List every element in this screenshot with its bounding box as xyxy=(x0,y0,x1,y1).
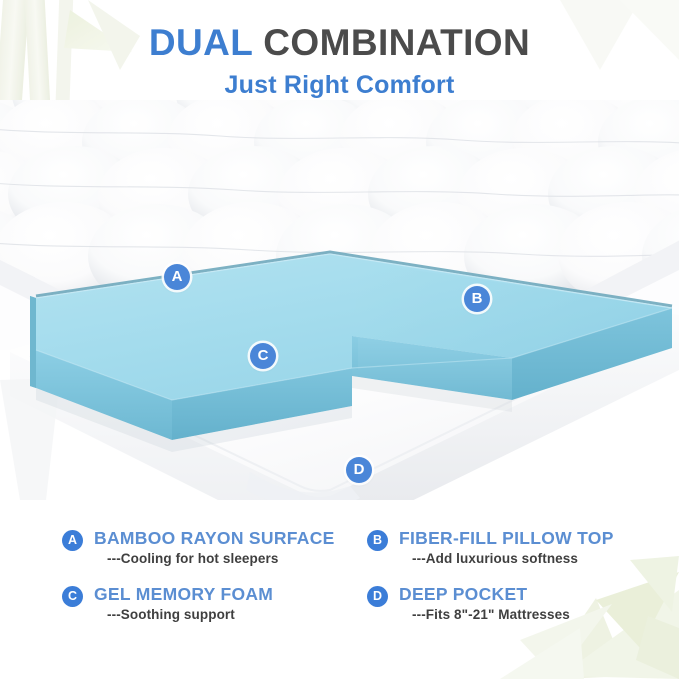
legend-sub-b: ---Add luxurious softness xyxy=(412,551,614,566)
legend-title-d: DEEP POCKET xyxy=(399,584,570,604)
page-title-highlight: DUAL xyxy=(149,22,253,63)
legend-text-a: BAMBOO RAYON SURFACE ---Cooling for hot … xyxy=(94,528,335,566)
legend-item-bamboo-rayon-surface: A BAMBOO RAYON SURFACE ---Cooling for ho… xyxy=(62,528,367,566)
legend-text-c: GEL MEMORY FOAM ---Soothing support xyxy=(94,584,273,622)
page-title: DUAL COMBINATION xyxy=(0,24,679,63)
legend-badge-c: C xyxy=(62,586,83,607)
legend-title-a: BAMBOO RAYON SURFACE xyxy=(94,528,335,548)
legend-sub-d: ---Fits 8"-21" Mattresses xyxy=(412,607,570,622)
legend-text-d: DEEP POCKET ---Fits 8"-21" Mattresses xyxy=(399,584,570,622)
legend-sub-a: ---Cooling for hot sleepers xyxy=(107,551,335,566)
badge-b-on-illustration: B xyxy=(464,286,490,312)
legend-badge-d: D xyxy=(367,586,388,607)
legend-item-fiber-fill-pillow-top: B FIBER-FILL PILLOW TOP ---Add luxurious… xyxy=(367,528,642,566)
feature-legend: A BAMBOO RAYON SURFACE ---Cooling for ho… xyxy=(62,528,642,622)
badge-c-on-illustration: C xyxy=(250,343,276,369)
legend-badge-b: B xyxy=(367,530,388,551)
legend-badge-a: A xyxy=(62,530,83,551)
badge-d-on-illustration: D xyxy=(346,457,372,483)
mattress-diagram xyxy=(0,100,679,500)
legend-item-deep-pocket: D DEEP POCKET ---Fits 8"-21" Mattresses xyxy=(367,584,642,622)
legend-item-gel-memory-foam: C GEL MEMORY FOAM ---Soothing support xyxy=(62,584,367,622)
legend-title-b: FIBER-FILL PILLOW TOP xyxy=(399,528,614,548)
mattress-illustration: A B C D xyxy=(0,100,679,500)
legend-text-b: FIBER-FILL PILLOW TOP ---Add luxurious s… xyxy=(399,528,614,566)
headline-block: DUAL COMBINATION Just Right Comfort xyxy=(0,24,679,100)
badge-a-on-illustration: A xyxy=(164,264,190,290)
page-subtitle: Just Right Comfort xyxy=(0,71,679,100)
legend-sub-c: ---Soothing support xyxy=(107,607,273,622)
page-title-rest: COMBINATION xyxy=(263,22,530,63)
legend-title-c: GEL MEMORY FOAM xyxy=(94,584,273,604)
